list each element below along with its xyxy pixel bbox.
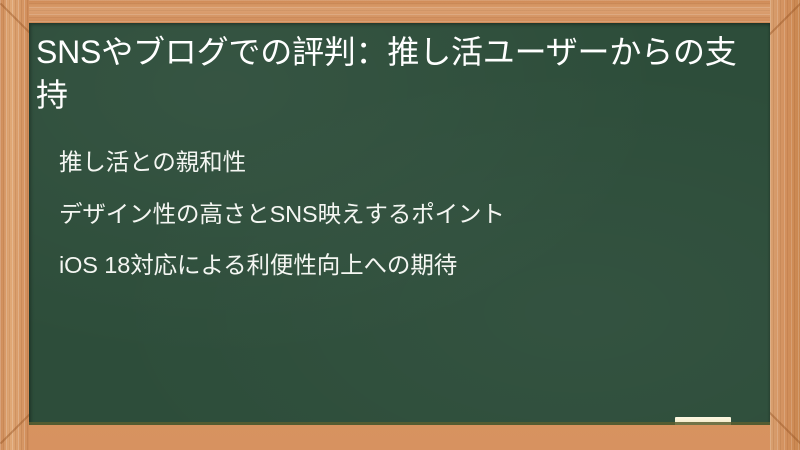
slide-title: SNSやブログでの評判：推し活ユーザーからの支持 xyxy=(36,31,752,116)
list-item: 推し活との親和性 xyxy=(59,151,749,175)
list-item: デザイン性の高さとSNS映えするポイント xyxy=(59,203,749,227)
board-bottom-ledge xyxy=(29,422,770,425)
frame-stile-right xyxy=(770,0,800,450)
slide-content: SNSやブログでの評判：推し活ユーザーからの支持 推し活との親和性 デザイン性の… xyxy=(29,23,770,425)
frame-stile-left xyxy=(0,0,29,450)
frame-rail-top xyxy=(0,0,800,23)
green-chalkboard-surface: SNSやブログでの評判：推し活ユーザーからの支持 推し活との親和性 デザイン性の… xyxy=(29,23,770,425)
frame-rail-bottom xyxy=(0,424,800,450)
chalkboard-slide: SNSやブログでの評判：推し活ユーザーからの支持 推し活との親和性 デザイン性の… xyxy=(0,0,800,450)
list-item: iOS 18対応による利便性向上への期待 xyxy=(59,254,749,278)
slide-bullet-list: 推し活との親和性 デザイン性の高さとSNS映えするポイント iOS 18対応によ… xyxy=(59,151,749,278)
